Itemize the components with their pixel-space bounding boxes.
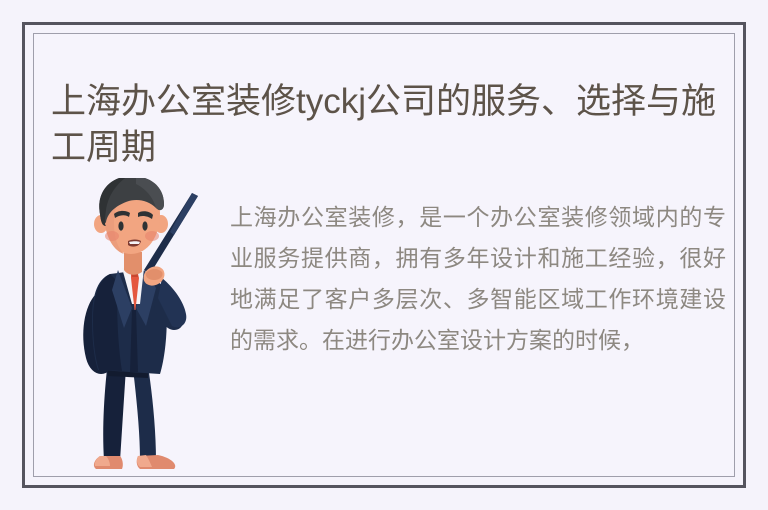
article-card-inner-frame: 上海办公室装修tyckj公司的服务、选择与施工周期 — [33, 33, 735, 477]
article-body-text: 上海办公室装修，是一个办公室装修领域内的专业服务提供商，拥有多年设计和施工经验，… — [230, 197, 726, 361]
head — [94, 178, 168, 254]
page-title: 上海办公室装修tyckj公司的服务、选择与施工周期 — [51, 79, 732, 171]
businessman-with-pointer-illustration — [74, 178, 214, 478]
article-content: 上海办公室装修，是一个办公室装修领域内的专业服务提供商，拥有多年设计和施工经验，… — [34, 174, 734, 476]
page-root: 上海办公室装修tyckj公司的服务、选择与施工周期 — [0, 0, 768, 510]
legs — [103, 360, 156, 461]
article-card-outer-frame: 上海办公室装修tyckj公司的服务、选择与施工周期 — [22, 22, 746, 488]
shoes — [94, 455, 175, 469]
